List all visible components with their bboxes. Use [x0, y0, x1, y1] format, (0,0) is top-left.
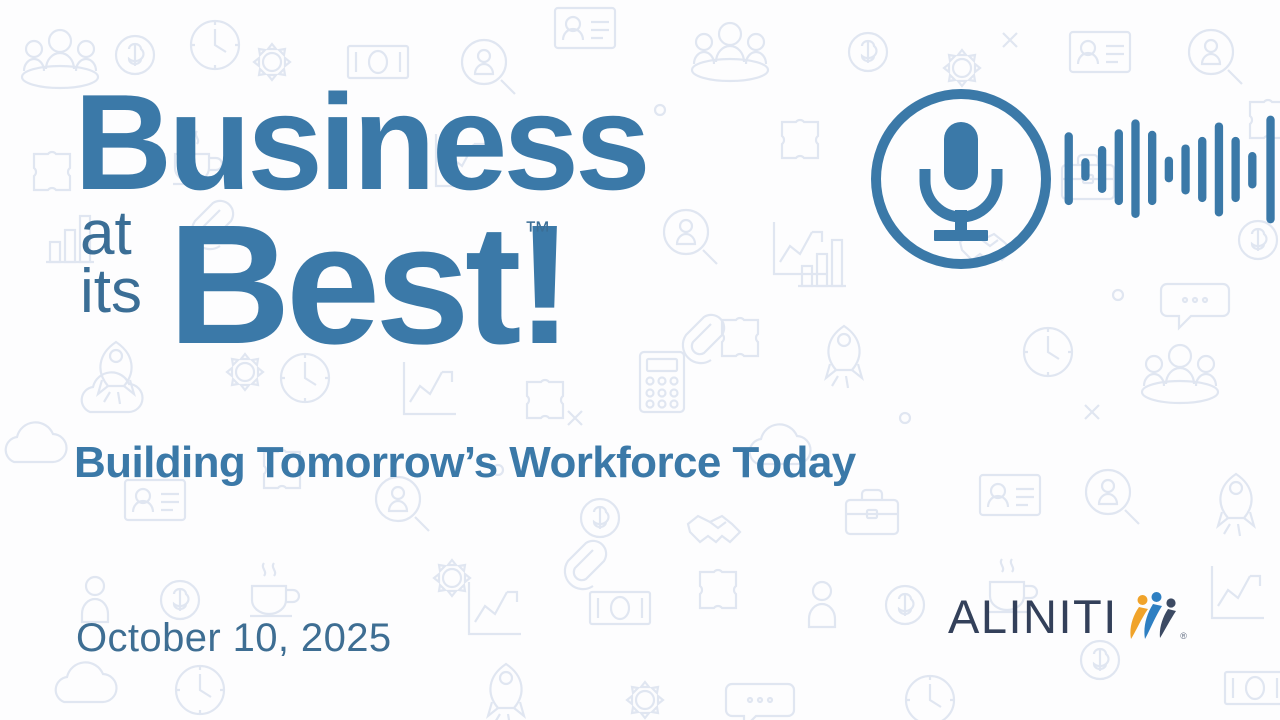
waveform-bar-10 — [1215, 122, 1223, 216]
aliniti-logo-mark: ® — [1128, 587, 1186, 645]
waveform-bar-9 — [1198, 137, 1206, 202]
audio-waveform-icon — [1060, 96, 1280, 246]
page-title-line-2: Best! — [168, 200, 568, 370]
waveform-bars — [1060, 96, 1280, 246]
subtitle: Building Tomorrow’s Workforce Today — [74, 438, 856, 488]
waveform-bar-11 — [1231, 137, 1239, 202]
title-word-its: its — [80, 262, 175, 323]
trademark-symbol: ™ — [524, 216, 551, 247]
microphone-icon — [866, 84, 1056, 274]
registered-trademark-symbol: ® — [1180, 632, 1187, 641]
waveform-bar-12 — [1248, 152, 1256, 188]
waveform-bar-6 — [1148, 131, 1156, 205]
title-small-words: at its — [80, 205, 175, 323]
waveform-bar-4 — [1115, 129, 1123, 205]
waveform-bar-7 — [1165, 157, 1173, 183]
waveform-bar-8 — [1181, 144, 1189, 194]
waveform-bar-1 — [1065, 132, 1073, 205]
waveform-bar-3 — [1098, 146, 1106, 193]
aliniti-logo-lockup: ALINITI ® — [948, 586, 1186, 646]
title-word-at: at — [80, 205, 175, 262]
waveform-bar-5 — [1131, 119, 1139, 218]
microphone-circle-badge — [866, 84, 1056, 274]
aliniti-wordmark: ALINITI — [948, 593, 1118, 640]
event-date: October 10, 2025 — [76, 616, 392, 661]
waveform-bar-2 — [1081, 158, 1089, 181]
waveform-bar-13 — [1266, 116, 1274, 224]
presentation-slide: Business at its Best! ™ Building Tomorro… — [0, 0, 1280, 720]
